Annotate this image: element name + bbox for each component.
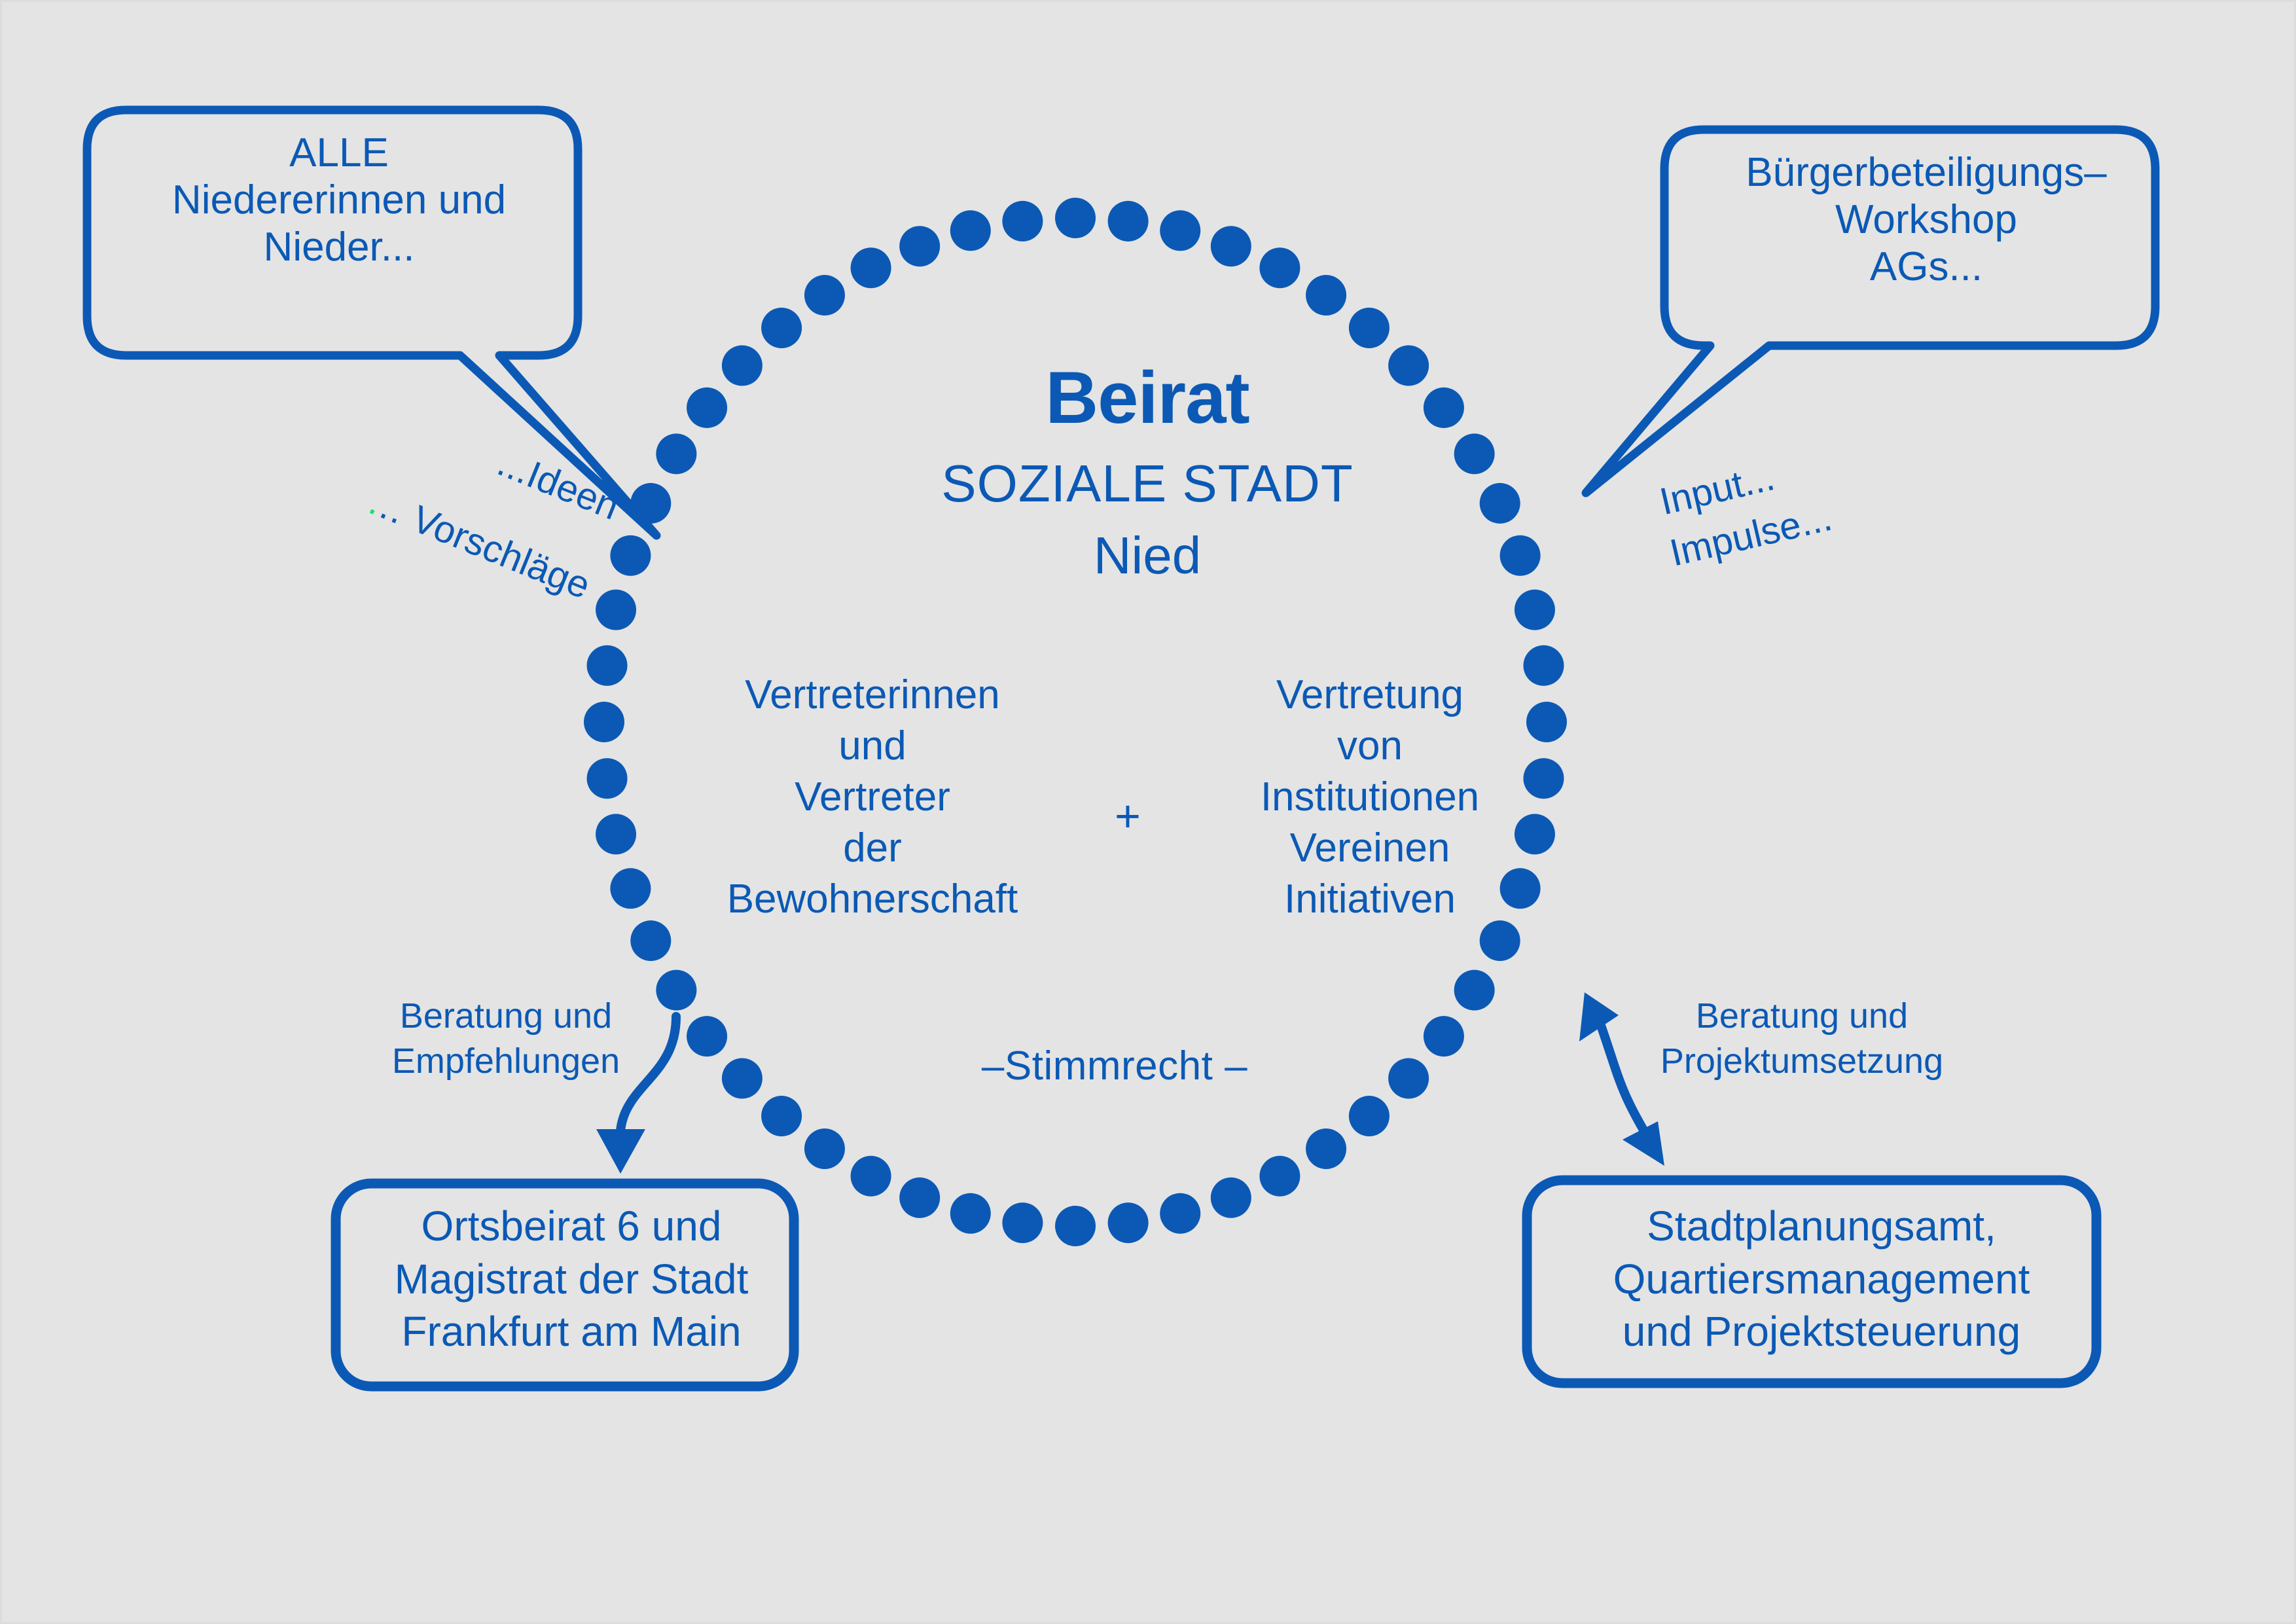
ring-dot bbox=[1424, 1016, 1464, 1056]
ring-dot bbox=[1160, 210, 1200, 251]
ring-dot bbox=[587, 758, 628, 799]
arrowhead-up-right bbox=[1579, 992, 1619, 1041]
ring-dot bbox=[1259, 247, 1300, 288]
ring-dot bbox=[1055, 1206, 1096, 1246]
left-bubble-label: ALLE Niedererinnen und Nieder... bbox=[94, 130, 584, 271]
ring-dot bbox=[1480, 920, 1520, 961]
ring-dot bbox=[596, 814, 636, 854]
annotation-beratung-empfehlungen: Beratung und Empfehlungen bbox=[368, 994, 643, 1084]
ring-dot bbox=[1388, 1058, 1429, 1098]
ring-dot bbox=[1306, 1128, 1346, 1169]
circle-column-left: Vertreterinnen und Vertreter der Bewohne… bbox=[683, 670, 1062, 926]
ring-dot bbox=[1259, 1156, 1300, 1197]
ring-dot bbox=[1211, 226, 1251, 266]
ring-dot bbox=[761, 1096, 802, 1136]
circle-plus-sign: + bbox=[1069, 791, 1187, 842]
ring-dot bbox=[1515, 590, 1555, 630]
ring-dot bbox=[1454, 970, 1495, 1011]
ring-dot bbox=[587, 645, 628, 686]
ring-dot bbox=[1055, 198, 1096, 238]
ring-dot bbox=[804, 275, 845, 316]
stimmrecht-label: –Stimmrecht – bbox=[918, 1043, 1311, 1090]
ring-dot bbox=[687, 1016, 727, 1056]
annotation-beratung-projektumsetzung: Beratung und Projektumsetzung bbox=[1632, 994, 1972, 1084]
ring-dot bbox=[1108, 201, 1149, 242]
ring-dot bbox=[851, 247, 891, 288]
ring-dot bbox=[1002, 201, 1043, 242]
ring-dot bbox=[656, 433, 696, 474]
ring-dot bbox=[1108, 1202, 1149, 1243]
ring-dot bbox=[1211, 1178, 1251, 1218]
arrowhead-down-left bbox=[596, 1129, 645, 1174]
ring-dot bbox=[851, 1156, 891, 1197]
ring-dot bbox=[1160, 1193, 1200, 1234]
ring-dot bbox=[1002, 1202, 1043, 1243]
ring-dot bbox=[610, 868, 651, 909]
ring-dot bbox=[722, 346, 762, 386]
ring-dot bbox=[584, 702, 624, 742]
ring-dot bbox=[950, 1193, 991, 1234]
ring-dot bbox=[656, 970, 696, 1011]
ring-dot bbox=[950, 210, 991, 251]
circle-subtitle-line1: SOZIALE STADT bbox=[781, 454, 1514, 514]
circle-subtitle-line2: Nied bbox=[781, 526, 1514, 586]
circle-column-right: Vertretung von Institutionen Vereinen In… bbox=[1200, 670, 1540, 926]
ring-dot bbox=[630, 920, 671, 961]
ortsbeirat-box-label: Ortsbeirat 6 und Magistrat der Stadt Fra… bbox=[336, 1200, 807, 1358]
ring-dot bbox=[899, 1178, 940, 1218]
stadtplanungsamt-box-label: Stadtplanungsamt, Quartiersmanagement un… bbox=[1534, 1200, 2109, 1358]
ring-dot bbox=[761, 308, 802, 348]
diagram-canvas: ALLE Niedererinnen und Nieder... Bürgerb… bbox=[0, 0, 2296, 1624]
ring-dot bbox=[804, 1128, 845, 1169]
ring-dot bbox=[1349, 308, 1390, 348]
ring-dot bbox=[687, 388, 727, 428]
ring-dot bbox=[899, 226, 940, 266]
ring-dot bbox=[1306, 275, 1346, 316]
ring-dot bbox=[1349, 1096, 1390, 1136]
right-bubble-label: Bürgerbeteiligungs– Workshop AGs... bbox=[1677, 149, 2175, 291]
ring-dot bbox=[722, 1058, 762, 1098]
circle-title: Beirat bbox=[781, 355, 1514, 441]
